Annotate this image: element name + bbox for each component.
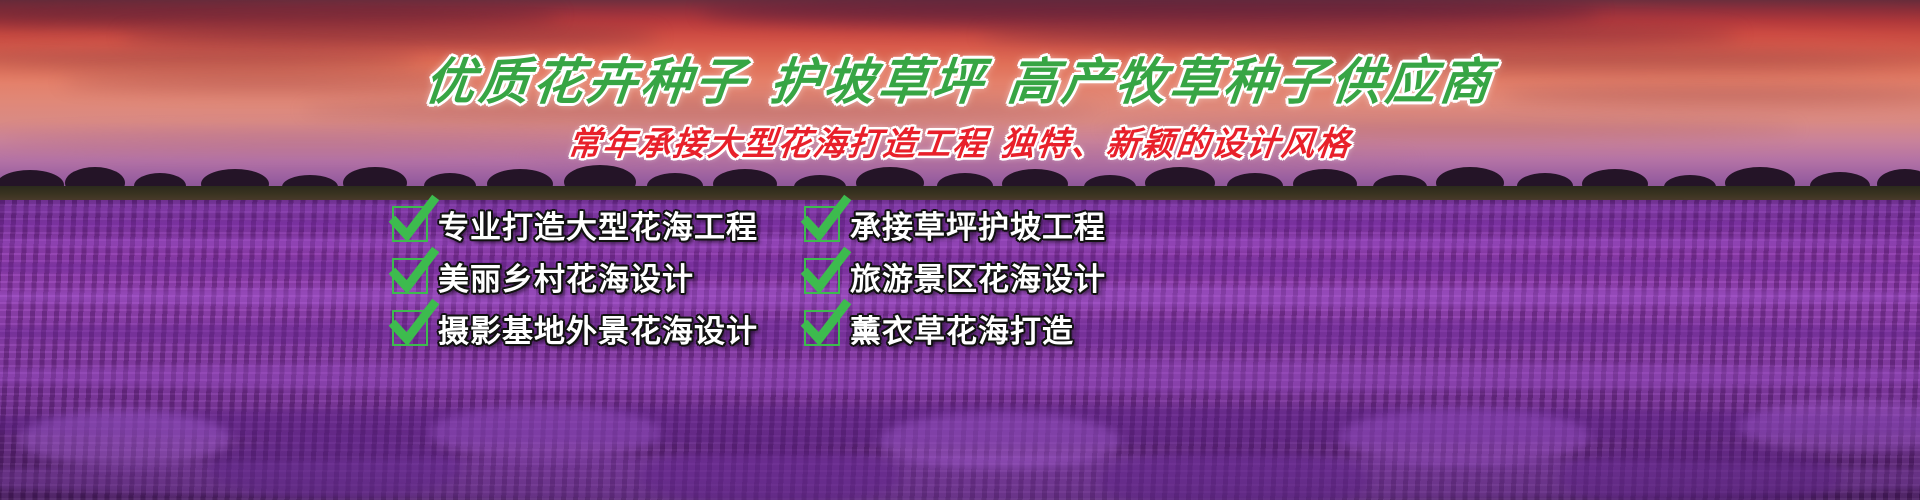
lavender-clump bbox=[1560, 444, 1840, 500]
check-mark-icon bbox=[392, 310, 428, 346]
lavender-clump bbox=[1340, 408, 1590, 464]
lavender-row bbox=[0, 360, 1920, 392]
cloud-streak bbox=[0, 2, 560, 28]
check-mark-icon bbox=[392, 258, 428, 294]
feature-label: 摄影基地外景花海设计 bbox=[438, 306, 758, 351]
banner-headline: 优质花卉种子 护坡草坪 高产牧草种子供应商 bbox=[0, 42, 1920, 114]
feature-item: 专业打造大型花海工程 bbox=[392, 198, 804, 250]
lavender-clump bbox=[1740, 400, 1920, 452]
feature-label: 薰衣草花海打造 bbox=[850, 306, 1074, 351]
lavender-clump bbox=[640, 445, 900, 500]
promotional-banner: 优质花卉种子 护坡草坪 高产牧草种子供应商 常年承接大型花海打造工程 独特、新颖… bbox=[0, 0, 1920, 500]
feature-item: 旅游景区花海设计 bbox=[804, 250, 1152, 302]
feature-label: 专业打造大型花海工程 bbox=[438, 202, 758, 247]
lavender-clump bbox=[430, 405, 660, 459]
banner-subheadline: 常年承接大型花海打造工程 独特、新颖的设计风格 bbox=[0, 117, 1920, 165]
check-mark-icon bbox=[804, 258, 840, 294]
feature-item: 摄影基地外景花海设计 bbox=[392, 302, 804, 354]
check-mark-icon bbox=[804, 206, 840, 242]
feature-item: 薰衣草花海打造 bbox=[804, 302, 1152, 354]
feature-label: 美丽乡村花海设计 bbox=[438, 254, 694, 299]
feature-checklist: 专业打造大型花海工程 承接草坪护坡工程 美丽乡村花海设计 bbox=[392, 198, 1152, 354]
check-mark-icon bbox=[392, 206, 428, 242]
feature-item: 承接草坪护坡工程 bbox=[804, 198, 1152, 250]
lavender-clump bbox=[20, 410, 230, 466]
lavender-clump bbox=[210, 436, 460, 498]
feature-label: 旅游景区花海设计 bbox=[850, 254, 1106, 299]
check-mark-icon bbox=[804, 310, 840, 346]
feature-label: 承接草坪护坡工程 bbox=[850, 202, 1106, 247]
feature-item: 美丽乡村花海设计 bbox=[392, 250, 804, 302]
lavender-clump bbox=[880, 412, 1120, 468]
